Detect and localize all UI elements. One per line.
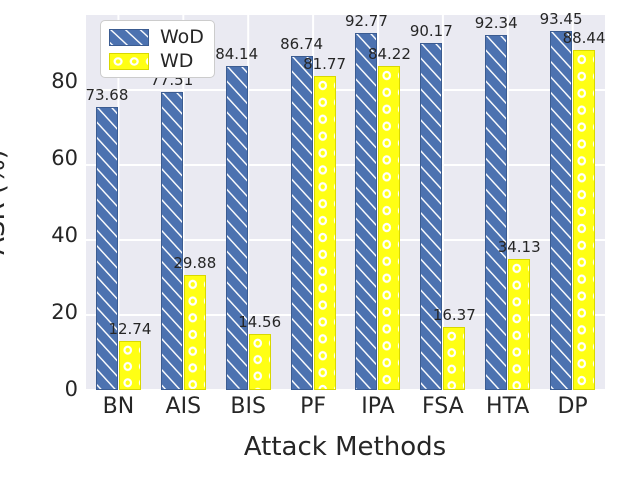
y-tick-60: 60 — [30, 148, 78, 169]
value-label-wd-hta: 34.13 — [492, 240, 546, 255]
value-label-wod-dp: 93.45 — [534, 12, 588, 27]
value-label-wd-fsa: 16.37 — [427, 308, 481, 323]
value-label-wd-pf: 81.77 — [298, 57, 352, 72]
bar-wod-ipa — [355, 33, 377, 390]
bar-wod-bn — [96, 107, 118, 390]
value-label-wd-ipa: 84.22 — [362, 47, 416, 62]
value-label-wod-hta: 92.34 — [469, 16, 523, 31]
bar-wod-ais — [161, 92, 183, 390]
legend-entry-wd[interactable]: WD — [109, 51, 204, 71]
x-axis-label: Attack Methods — [244, 432, 446, 462]
value-label-wd-bis: 14.56 — [233, 315, 287, 330]
x-tick-ais: AIS — [166, 396, 202, 418]
value-label-wd-ais: 29.88 — [168, 256, 222, 271]
x-tick-pf: PF — [300, 396, 326, 418]
x-tick-dp: DP — [557, 396, 587, 418]
bar-wd-bn — [119, 341, 141, 390]
bar-wd-bis — [249, 334, 271, 390]
x-tick-hta: HTA — [486, 396, 529, 418]
bar-wd-fsa — [443, 327, 465, 390]
blue-hatched-swatch — [109, 29, 149, 46]
yellow-dotted-swatch — [109, 53, 149, 70]
chart-legend[interactable]: WoD WD — [100, 20, 215, 78]
bar-wod-fsa — [420, 43, 442, 390]
legend-entry-wod[interactable]: WoD — [109, 27, 204, 47]
x-tick-bn: BN — [103, 396, 135, 418]
bar-wod-hta — [485, 35, 507, 390]
x-tick-ipa: IPA — [361, 396, 394, 418]
y-axis-label: ASR (%) — [0, 149, 11, 255]
bar-wd-hta — [508, 259, 530, 390]
y-tick-20: 20 — [30, 302, 78, 323]
x-tick-bis: BIS — [230, 396, 266, 418]
bar-wd-ais — [184, 275, 206, 390]
bar-wod-dp — [550, 31, 572, 390]
y-tick-0: 0 — [30, 379, 78, 400]
value-label-wd-bn: 12.74 — [103, 322, 157, 337]
value-label-wod-bis: 84.14 — [210, 47, 264, 62]
x-tick-fsa: FSA — [422, 396, 464, 418]
bar-wd-dp — [573, 50, 595, 390]
bar-wd-ipa — [378, 66, 400, 390]
legend-label-wod: WoD — [160, 28, 204, 47]
chart-figure: 73.6812.7477.5129.8884.1414.5686.7481.77… — [0, 0, 640, 480]
bar-wod-bis — [226, 66, 248, 390]
value-label-wd-dp: 88.44 — [557, 31, 611, 46]
value-label-wod-fsa: 90.17 — [404, 24, 458, 39]
value-label-wod-ipa: 92.77 — [339, 14, 393, 29]
y-tick-80: 80 — [30, 71, 78, 92]
bar-wd-pf — [314, 76, 336, 391]
y-tick-40: 40 — [30, 225, 78, 246]
value-label-wod-bn: 73.68 — [80, 88, 134, 103]
value-label-wod-pf: 86.74 — [275, 37, 329, 52]
plot-area: 73.6812.7477.5129.8884.1414.5686.7481.77… — [86, 15, 605, 390]
legend-label-wd: WD — [160, 52, 193, 71]
bar-wod-pf — [291, 56, 313, 390]
